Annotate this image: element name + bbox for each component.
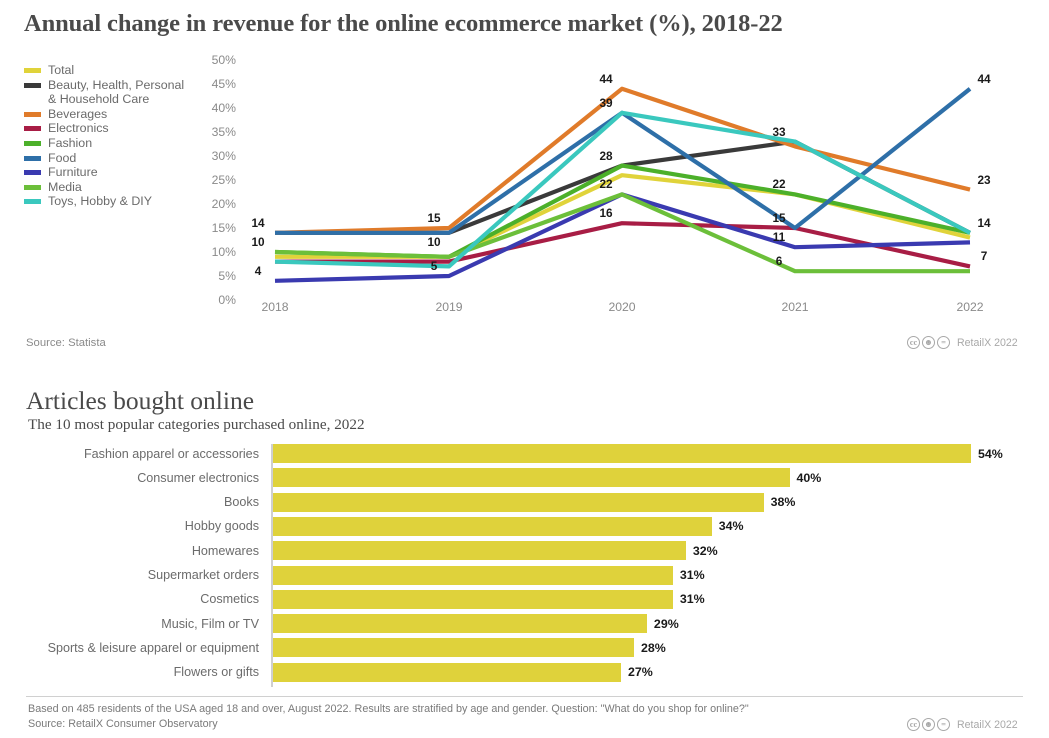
bar-track: 40% [271,468,1024,487]
data-point-label: 14 [977,216,990,230]
bar-value-label: 32% [693,544,718,558]
bar-track: 28% [271,638,1024,657]
legend-item-label: Media [48,180,82,195]
bar-category-label: Fashion apparel or accessories [24,447,271,461]
bar-value-label: 31% [680,568,705,582]
bar-category-label: Homewares [24,544,271,558]
legend-color-swatch [24,199,41,204]
data-point-label: 23 [977,173,990,187]
license-badge-chart2: cc ☻ = RetailX 2022 [907,718,1018,731]
bar-fill [271,541,686,560]
data-point-label: 15 [427,211,440,225]
legend-color-swatch [24,126,41,131]
y-axis-tick-label: 45% [212,77,236,91]
data-point-label: 7 [981,249,988,263]
bar-value-label: 40% [797,471,822,485]
data-point-label: 28 [599,149,612,163]
cc-icon: cc [907,336,920,349]
legend-item-label: Total [48,63,74,78]
legend-color-swatch [24,141,41,146]
data-point-label: 39 [599,96,612,110]
line-chart-y-axis: 0%5%10%15%20%25%30%35%40%45%50% [186,60,236,300]
legend-item-label: Furniture [48,165,98,180]
bar-fill [271,566,673,585]
bar-fill [271,663,621,682]
bar-chart-source: Source: RetailX Consumer Observatory [28,718,218,730]
legend-color-swatch [24,83,41,88]
data-point-label: 6 [776,254,783,268]
bar-value-label: 29% [654,617,679,631]
line-chart-x-axis: 20182019202020212022 [240,300,1030,320]
legend-color-swatch [24,68,41,73]
x-axis-tick-label: 2020 [608,300,635,314]
bar-category-label: Cosmetics [24,592,271,606]
bar-fill [271,638,634,657]
bar-row[interactable]: Supermarket orders31% [24,566,1024,585]
legend-item-label: Toys, Hobby & DIY [48,194,152,209]
legend-item-label: Fashion [48,136,92,151]
bar-row[interactable]: Homewares32% [24,541,1024,560]
legend-color-swatch [24,185,41,190]
bar-value-label: 27% [628,665,653,679]
bar-category-label: Books [24,495,271,509]
cc-by-icon: ☻ [922,718,935,731]
bar-track: 32% [271,541,1024,560]
x-axis-tick-label: 2018 [261,300,288,314]
line-chart-source: Source: Statista [26,337,106,349]
bar-category-label: Supermarket orders [24,568,271,582]
y-axis-tick-label: 15% [212,221,236,235]
legend-item-label: Electronics [48,121,109,136]
bar-category-label: Hobby goods [24,519,271,533]
bar-track: 29% [271,614,1024,633]
bar-category-label: Consumer electronics [24,471,271,485]
bar-category-label: Sports & leisure apparel or equipment [24,641,271,655]
bar-fill [271,444,971,463]
bar-row[interactable]: Sports & leisure apparel or equipment28% [24,638,1024,657]
data-point-label: 5 [431,259,438,273]
bar-track: 38% [271,493,1024,512]
bar-chart-subtitle: The 10 most popular categories purchased… [28,416,365,434]
cc-nd-icon: = [937,336,950,349]
bar-row[interactable]: Music, Film or TV29% [24,614,1024,633]
data-point-label: 14 [251,216,264,230]
bar-fill [271,468,790,487]
y-axis-tick-label: 30% [212,149,236,163]
bar-value-label: 38% [771,495,796,509]
data-point-label: 33 [772,125,785,139]
bar-row[interactable]: Flowers or gifts27% [24,663,1024,682]
bar-category-label: Flowers or gifts [24,665,271,679]
line-series [275,142,970,233]
y-axis-tick-label: 40% [212,101,236,115]
data-point-label: 44 [599,72,612,86]
y-axis-tick-label: 10% [212,245,236,259]
bar-fill [271,517,712,536]
license-badge-chart2-text: RetailX 2022 [957,719,1018,731]
y-axis-tick-label: 0% [218,293,236,307]
bar-fill [271,590,673,609]
line-chart-plot [240,60,1030,300]
bar-category-label: Music, Film or TV [24,617,271,631]
y-axis-tick-label: 35% [212,125,236,139]
data-point-label: 44 [977,72,990,86]
cc-by-icon: ☻ [922,336,935,349]
x-axis-tick-label: 2019 [435,300,462,314]
legend-color-swatch [24,170,41,175]
bar-track: 54% [271,444,1024,463]
bar-chart-footnote: Based on 485 residents of the USA aged 1… [28,703,749,715]
data-point-label: 16 [599,206,612,220]
legend-color-swatch [24,156,41,161]
bar-fill [271,614,647,633]
y-axis-tick-label: 50% [212,53,236,67]
bar-value-label: 31% [680,592,705,606]
y-axis-tick-label: 20% [212,197,236,211]
data-point-label: 10 [427,235,440,249]
data-point-label: 15 [772,211,785,225]
legend-item-label: Beauty, Health, Personal [48,78,184,93]
license-badge-chart1-text: RetailX 2022 [957,337,1018,349]
bar-value-label: 28% [641,641,666,655]
bar-track: 34% [271,517,1024,536]
bar-row[interactable]: Books38% [24,493,1024,512]
cc-icon: cc [907,718,920,731]
license-badge-chart1: cc ☻ = RetailX 2022 [907,336,1018,349]
x-axis-tick-label: 2022 [956,300,983,314]
infographic-page: Annual change in revenue for the online … [0,0,1049,738]
cc-nd-icon: = [937,718,950,731]
bar-chart-axis-line [271,444,273,687]
bar-row[interactable]: Consumer electronics40% [24,468,1024,487]
legend-item-label: Food [48,151,76,166]
bar-chart-title: Articles bought online [26,386,254,416]
data-point-label: 22 [599,177,612,191]
bar-track: 31% [271,590,1024,609]
bar-track: 31% [271,566,1024,585]
bar-row[interactable]: Hobby goods34% [24,517,1024,536]
line-chart-title: Annual change in revenue for the online … [24,10,783,38]
line-chart-svg [240,60,1030,300]
bar-row[interactable]: Fashion apparel or accessories54% [24,444,1024,463]
bar-value-label: 54% [978,447,1003,461]
x-axis-tick-label: 2021 [781,300,808,314]
data-point-label: 11 [773,230,785,244]
line-series [275,194,970,280]
data-point-label: 4 [255,264,262,278]
bar-chart-rows: Fashion apparel or accessories54%Consume… [24,444,1024,687]
legend-item-label: Beverages [48,107,107,122]
bar-row[interactable]: Cosmetics31% [24,590,1024,609]
bar-track: 27% [271,663,1024,682]
legend-color-swatch [24,112,41,117]
bar-fill [271,493,764,512]
y-axis-tick-label: 5% [218,269,236,283]
data-point-label: 10 [251,235,264,249]
bar-value-label: 34% [719,519,744,533]
data-point-label: 22 [772,177,785,191]
footer-divider [26,696,1023,697]
y-axis-tick-label: 25% [212,173,236,187]
